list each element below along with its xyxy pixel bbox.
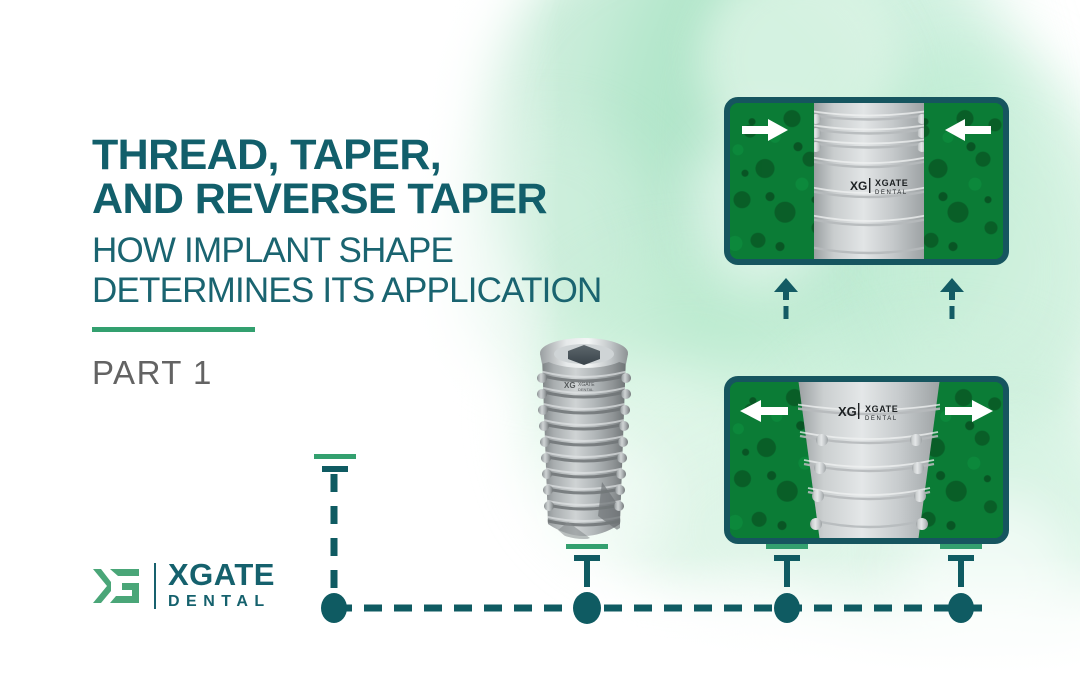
- node-dot: [321, 593, 347, 623]
- page-subtitle: HOW IMPLANT SHAPE DETERMINES ITS APPLICA…: [92, 231, 712, 311]
- node-tick-green: [940, 544, 982, 549]
- timeline-node-1: [314, 454, 356, 623]
- svg-text:DENTAL: DENTAL: [875, 190, 908, 196]
- logo-divider: [154, 563, 156, 609]
- transfer-arrows-group: [760, 278, 990, 320]
- arrow-left-icon: [945, 119, 991, 141]
- svg-text:XGATE: XGATE: [875, 178, 908, 188]
- svg-text:XG: XG: [850, 179, 867, 193]
- node-tick-green: [766, 544, 808, 549]
- implant-brand-marking-bottom: XG XGATE DENTAL: [838, 400, 910, 424]
- page-title: THREAD, TAPER, AND REVERSE TAPER: [92, 133, 712, 221]
- node-tick-teal: [948, 555, 974, 561]
- node-tick-green: [314, 454, 356, 459]
- node-stem: [584, 561, 590, 587]
- svg-text:XG: XG: [564, 381, 576, 390]
- brand-subname: DENTAL: [168, 592, 275, 612]
- svg-text:XGATE: XGATE: [865, 404, 898, 414]
- arrow-left-icon: [740, 400, 788, 422]
- headline-line-2: AND REVERSE TAPER: [92, 177, 712, 221]
- brand-logo: XGATE DENTAL: [90, 560, 275, 612]
- node-dot: [774, 593, 800, 623]
- brand-name: XGATE: [168, 560, 275, 590]
- node-stem: [784, 561, 790, 587]
- arrow-up-right-icon: [940, 278, 964, 319]
- timeline-node-2: [566, 544, 608, 624]
- poster-canvas: THREAD, TAPER, AND REVERSE TAPER HOW IMP…: [0, 0, 1080, 675]
- node-tick-teal: [574, 555, 600, 561]
- headline-line-1: THREAD, TAPER,: [92, 133, 712, 177]
- node-dot: [573, 592, 601, 624]
- node-dot: [948, 593, 974, 623]
- timeline-graphic: [300, 440, 1000, 640]
- node-tick-green: [566, 544, 608, 549]
- node-stem: [958, 561, 964, 587]
- subhead-line-2: DETERMINES ITS APPLICATION: [92, 271, 712, 311]
- arrow-up-left-icon: [774, 278, 798, 319]
- svg-text:DENTAL: DENTAL: [578, 387, 594, 392]
- subhead-line-1: HOW IMPLANT SHAPE: [92, 231, 712, 271]
- node-tick-teal: [774, 555, 800, 561]
- node-tick-teal: [322, 466, 348, 472]
- accent-divider: [92, 327, 255, 332]
- arrow-right-icon: [945, 400, 993, 422]
- implant-brand-marking-top: XG XGATE DENTAL: [850, 175, 920, 197]
- xg-monogram-icon: [90, 560, 142, 612]
- arrow-right-icon: [742, 119, 788, 141]
- svg-text:DENTAL: DENTAL: [865, 416, 898, 422]
- panel-compression: XG XGATE DENTAL: [724, 97, 1009, 265]
- svg-text:XG: XG: [838, 404, 857, 419]
